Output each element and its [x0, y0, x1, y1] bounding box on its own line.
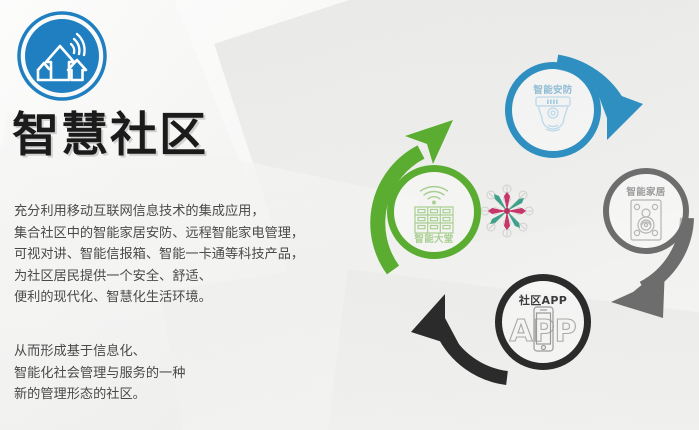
- node-label-security: 智能安防: [505, 82, 601, 96]
- arrow-black: [411, 294, 507, 378]
- paragraph-line: 便利的现代化、智慧化生活环境。: [14, 287, 304, 309]
- diagram-node-security[interactable]: 智能安防: [505, 62, 601, 158]
- smart-panel-icon: [603, 198, 689, 242]
- diagram-node-app[interactable]: 社区APP APP: [495, 274, 591, 370]
- house-wifi-logo-icon: [16, 10, 108, 102]
- description-paragraph-2: 从而形成基于信息化、 智能化社会管理与服务的一种 新的管理形态的社区。: [14, 341, 185, 406]
- paragraph-line: 从而形成基于信息化、: [14, 341, 185, 363]
- paragraph-line: 新的管理形态的社区。: [14, 384, 185, 406]
- description-paragraph-1: 充分利用移动互联网信息技术的集成应用， 集合社区中的智能家居安防、远程智能家电管…: [14, 201, 304, 309]
- poster-canvas: 智慧社区 充分利用移动互联网信息技术的集成应用， 集合社区中的智能家居安防、远程…: [0, 0, 699, 430]
- paragraph-line: 智能化社会管理与服务的一种: [14, 363, 185, 385]
- diagram-node-lobby[interactable]: 智能大堂: [387, 165, 481, 259]
- node-label-home: 智能家居: [603, 184, 689, 198]
- paragraph-line: 可视对讲、智能信报箱、智能一卡通等科技产品，: [14, 244, 304, 266]
- paragraph-line: 集合社区中的智能家居安防、远程智能家电管理，: [14, 223, 304, 245]
- page-title: 智慧社区: [12, 112, 208, 159]
- smartphone-app-icon: APP: [495, 305, 591, 353]
- security-camera-icon: [505, 95, 601, 137]
- diagram-node-home[interactable]: 智能家居: [603, 168, 689, 254]
- paragraph-line: 充分利用移动互联网信息技术的集成应用，: [14, 201, 304, 223]
- cycle-diagram: 智能安防: [375, 40, 699, 430]
- building-wifi-icon: [387, 185, 481, 235]
- paragraph-line: 为社区居民提供一个安全、舒适、: [14, 266, 304, 288]
- starburst-snowflake-icon: [478, 182, 536, 240]
